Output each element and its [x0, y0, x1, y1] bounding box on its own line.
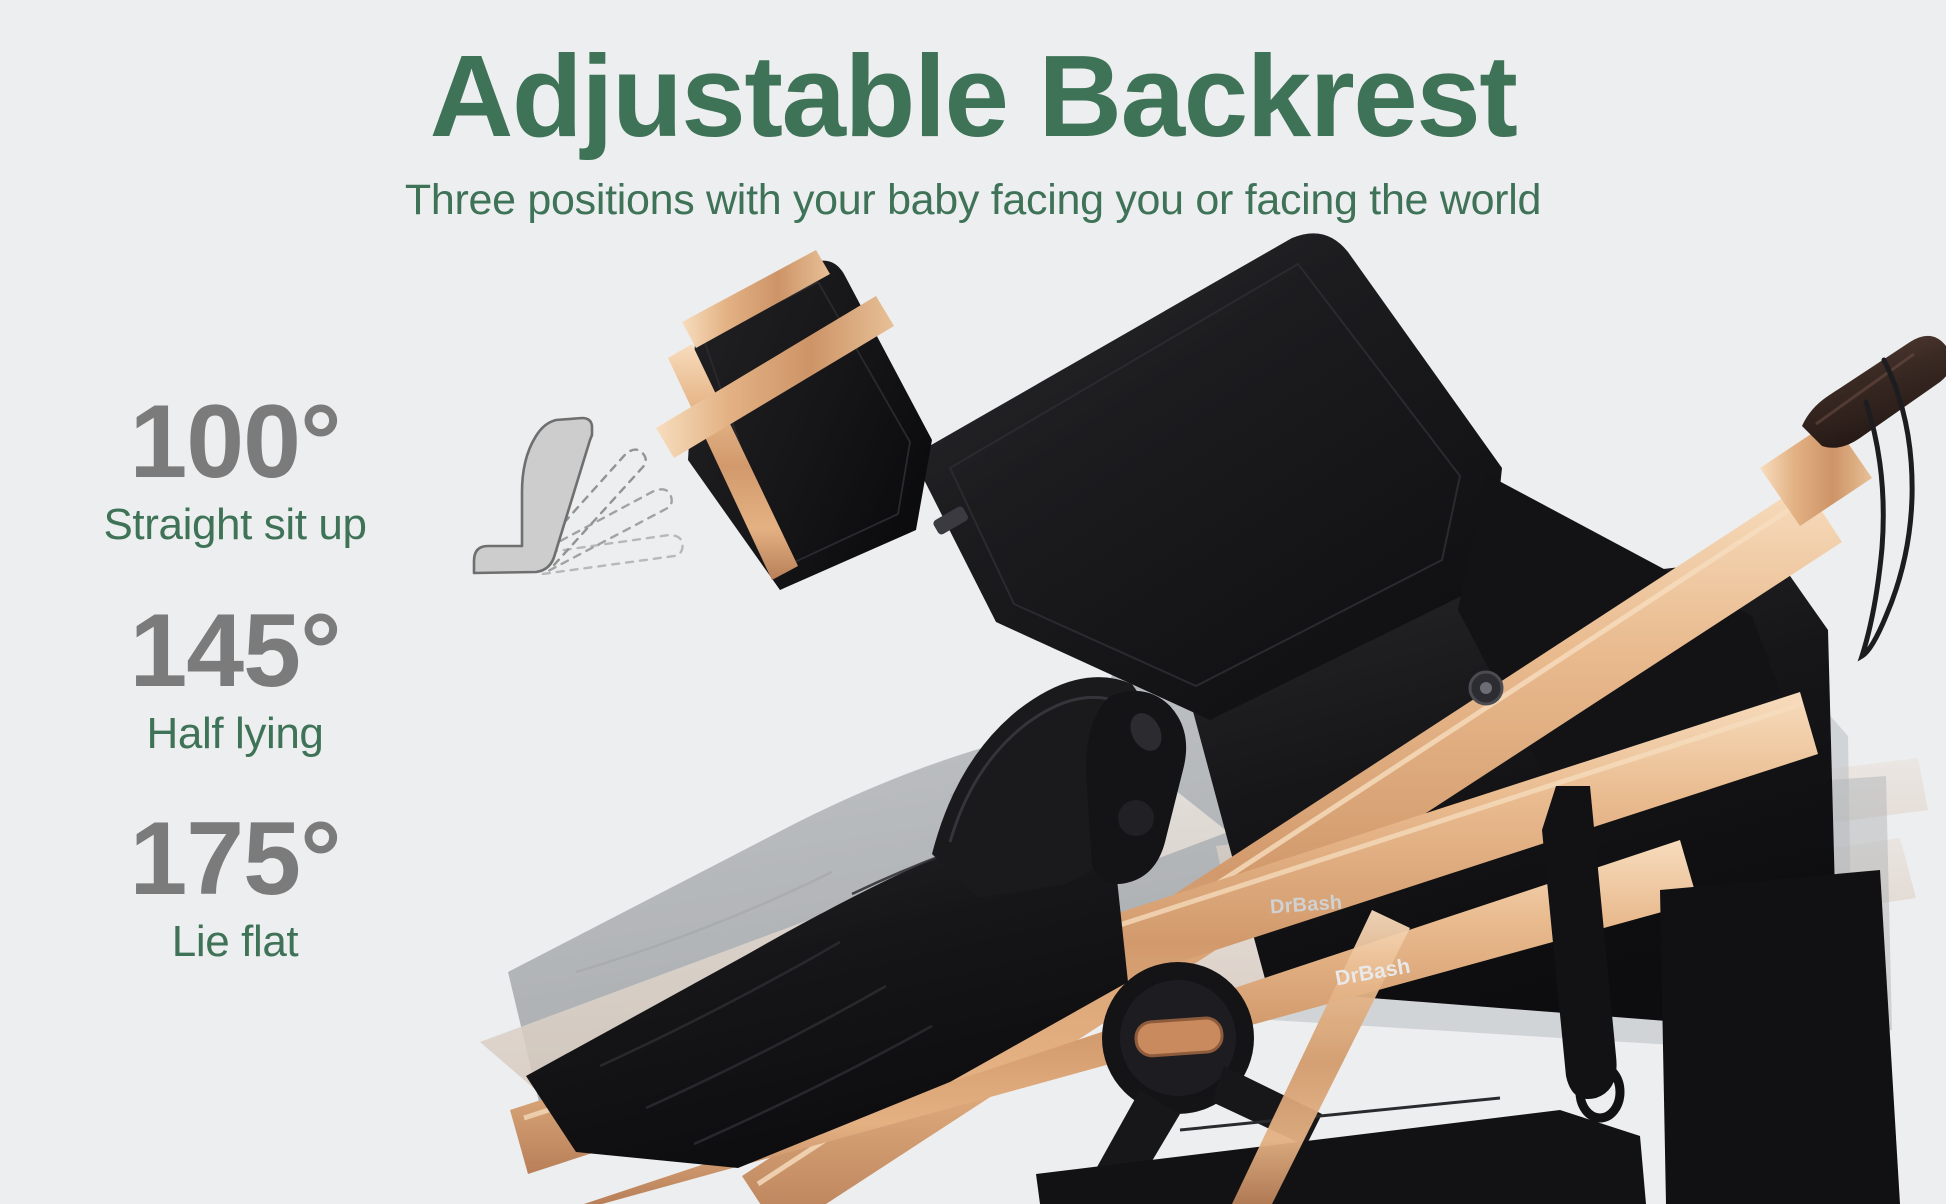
rear-lower-panel: [1660, 870, 1900, 1204]
angle-label: Straight sit up: [0, 500, 470, 551]
angle-value: 145°: [0, 599, 470, 703]
header: Adjustable Backrest Three positions with…: [0, 0, 1946, 225]
angle-item-straight-sit-up: 100° Straight sit up: [0, 390, 470, 551]
poster-canvas: Adjustable Backrest Three positions with…: [0, 0, 1946, 1204]
seat-shell-shape: [474, 418, 592, 573]
angle-item-half-lying: 145° Half lying: [0, 599, 470, 760]
angle-label: Lie flat: [0, 917, 470, 968]
stroller-illustration: [480, 230, 1946, 1204]
angle-value: 175°: [0, 807, 470, 911]
page-title: Adjustable Backrest: [0, 0, 1946, 158]
product-photo-stroller: DrBash DrBash: [480, 230, 1946, 1204]
seat-recline-diagram-icon: [440, 380, 740, 610]
page-subtitle: Three positions with your baby facing yo…: [0, 158, 1946, 225]
seat-recline-svg: [440, 380, 740, 610]
bumper-bar-joint: [1118, 800, 1154, 836]
angle-item-lie-flat: 175° Lie flat: [0, 807, 470, 968]
angle-list: 100° Straight sit up 145° Half lying 175…: [0, 390, 470, 1016]
canopy-pivot-center: [1480, 682, 1492, 694]
angle-value: 100°: [0, 390, 470, 494]
recline-release-button[interactable]: [1135, 1017, 1223, 1057]
angle-label: Half lying: [0, 709, 470, 760]
